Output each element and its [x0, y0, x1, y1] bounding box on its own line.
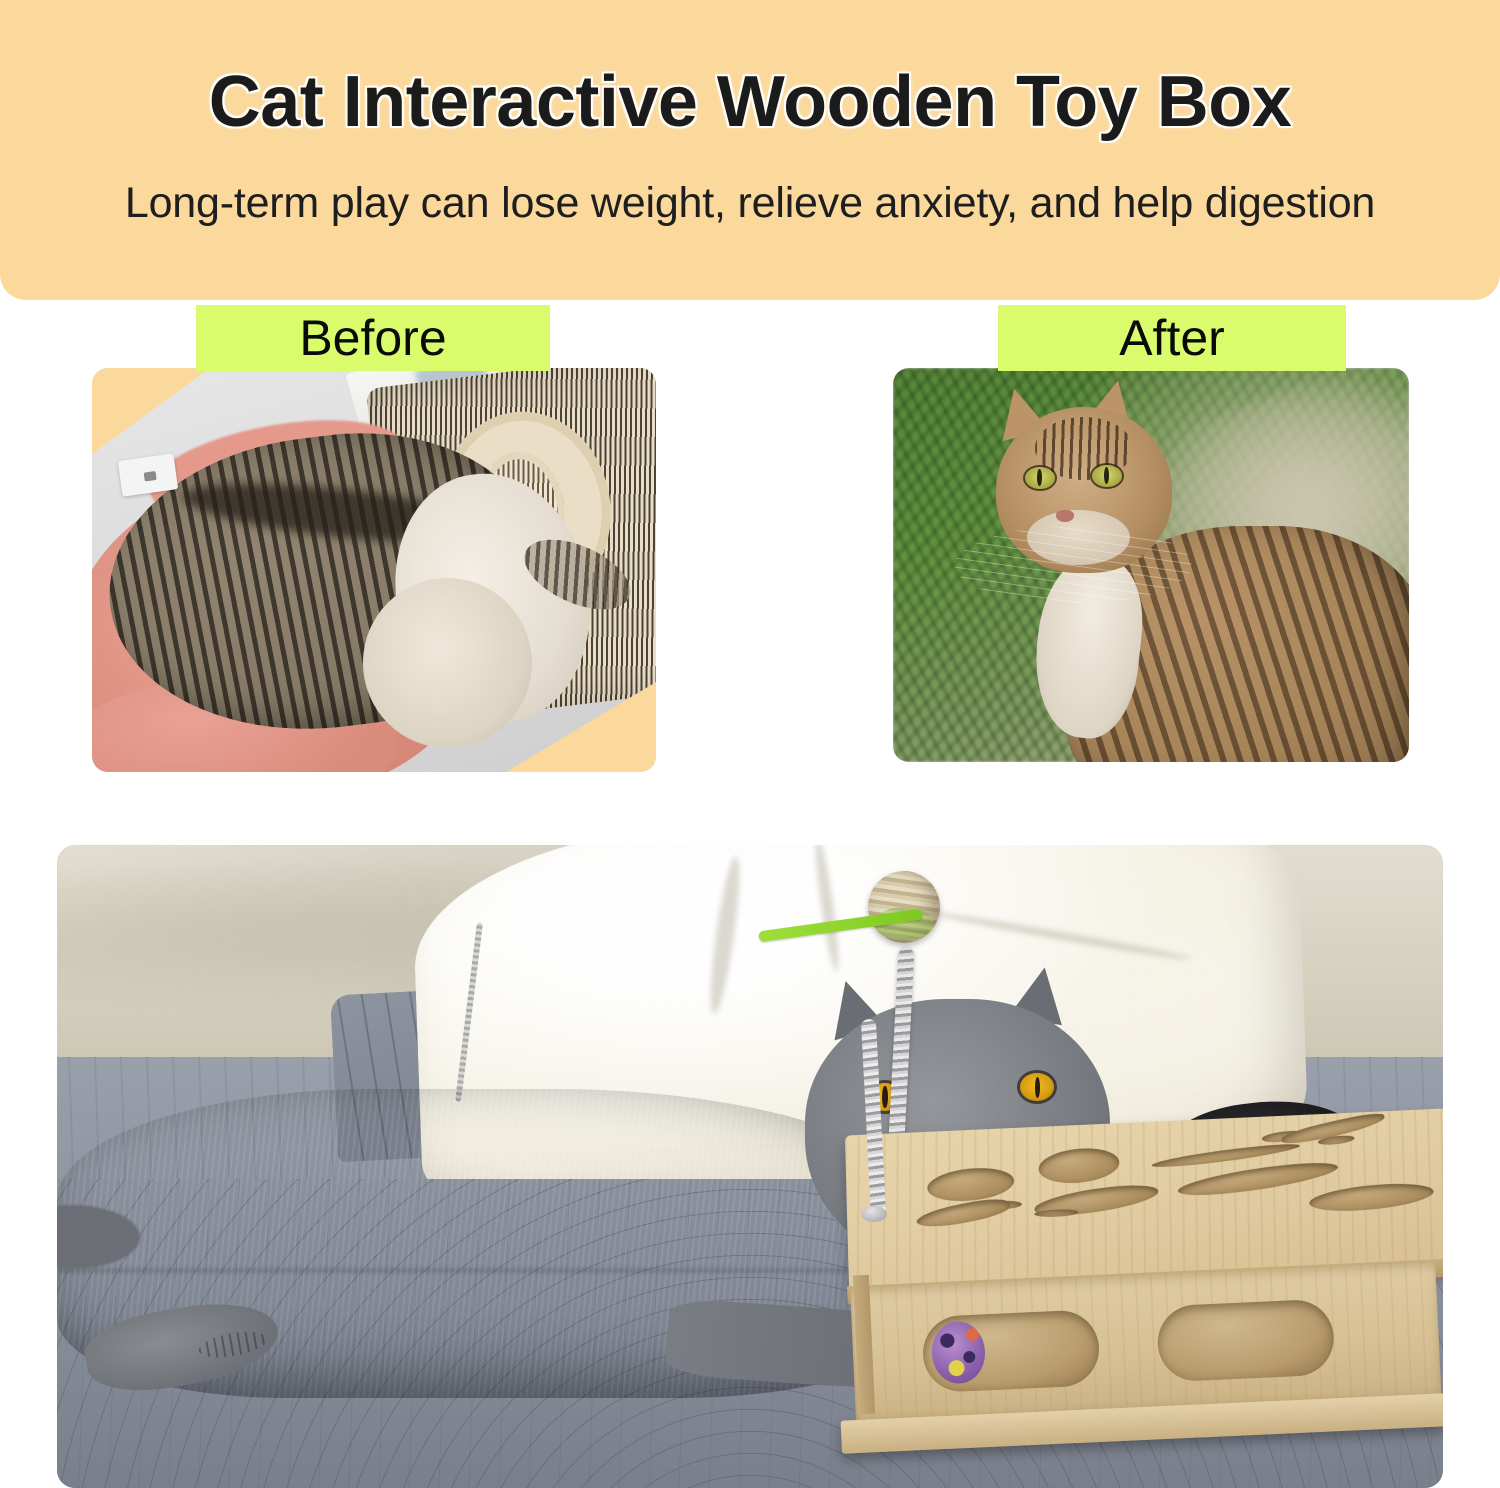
sisal-ball-toy — [868, 871, 940, 943]
fleece-fold — [812, 845, 843, 972]
slim-cat-whiskers — [955, 526, 1192, 605]
box-corner-spring-foot — [861, 1206, 887, 1222]
infographic-page: Cat Interactive Wooden Toy Box Long-term… — [0, 0, 1500, 1488]
header-banner: Cat Interactive Wooden Toy Box Long-term… — [0, 0, 1500, 300]
play-ball-inside — [931, 1321, 986, 1385]
before-corner-accent-bottom-right — [506, 682, 656, 772]
after-label: After — [998, 305, 1346, 371]
after-photo — [893, 368, 1409, 762]
before-photo — [92, 368, 656, 772]
hero-product-photo — [57, 845, 1443, 1488]
page-subtitle: Long-term play can lose weight, relieve … — [0, 180, 1500, 227]
fleece-fold — [705, 855, 745, 1015]
toy-box-hole — [1308, 1180, 1435, 1216]
page-title: Cat Interactive Wooden Toy Box — [0, 64, 1500, 140]
wooden-toy-box — [847, 1121, 1443, 1488]
before-label: Before — [196, 305, 550, 371]
fleece-fold — [930, 909, 1193, 963]
toy-box-opening-right — [1156, 1299, 1335, 1383]
toy-box-hole — [1038, 1146, 1122, 1187]
before-corner-accent-top-left — [92, 368, 210, 454]
slim-cat-eye-right — [1092, 465, 1122, 487]
slim-cat-eye-left — [1025, 467, 1055, 489]
slim-cat-nose — [1056, 510, 1074, 522]
toy-box-hole — [1034, 1209, 1078, 1218]
